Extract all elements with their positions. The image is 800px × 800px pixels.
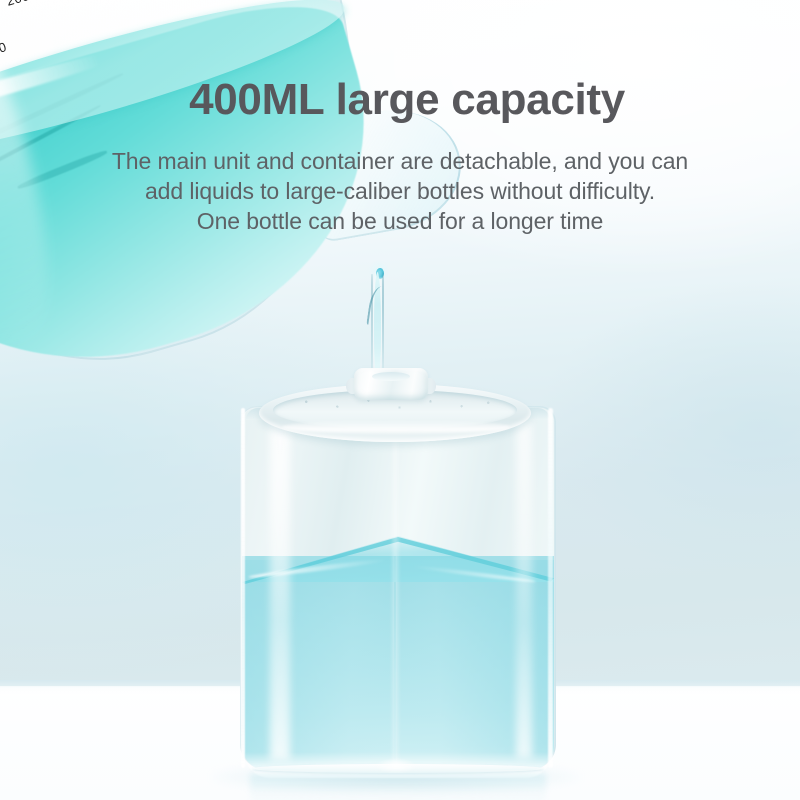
water-tank-dispenser [226,360,566,780]
tank-highlight-right [516,420,532,758]
tank-right-edge [548,408,553,768]
subcopy-line-3: One bottle can be used for a longer time [0,206,800,236]
subcopy-line-2: add liquids to large-caliber bottles wit… [0,176,800,206]
dispenser-lid-highlight [282,420,510,434]
scale-number: 200 [5,0,31,9]
scale-number: 150 [0,39,8,60]
nozzle-opening [372,372,410,381]
tank-front-corner [392,414,399,766]
water-left-face [242,560,396,770]
page-title: 400ML large capacity [0,78,800,122]
tank-highlight-left [270,416,290,760]
subcopy-block: The main unit and container are detachab… [0,146,800,236]
tank-reflection [250,774,546,800]
tank-left-edge [241,408,245,768]
product-marketing-image: 300 250 200 150 100 1 3/4 1/2 1/4 [0,0,800,800]
stream-twist [366,285,389,327]
tank-base-corner-glint [376,758,416,774]
subcopy-line-1: The main unit and container are detachab… [0,146,800,176]
